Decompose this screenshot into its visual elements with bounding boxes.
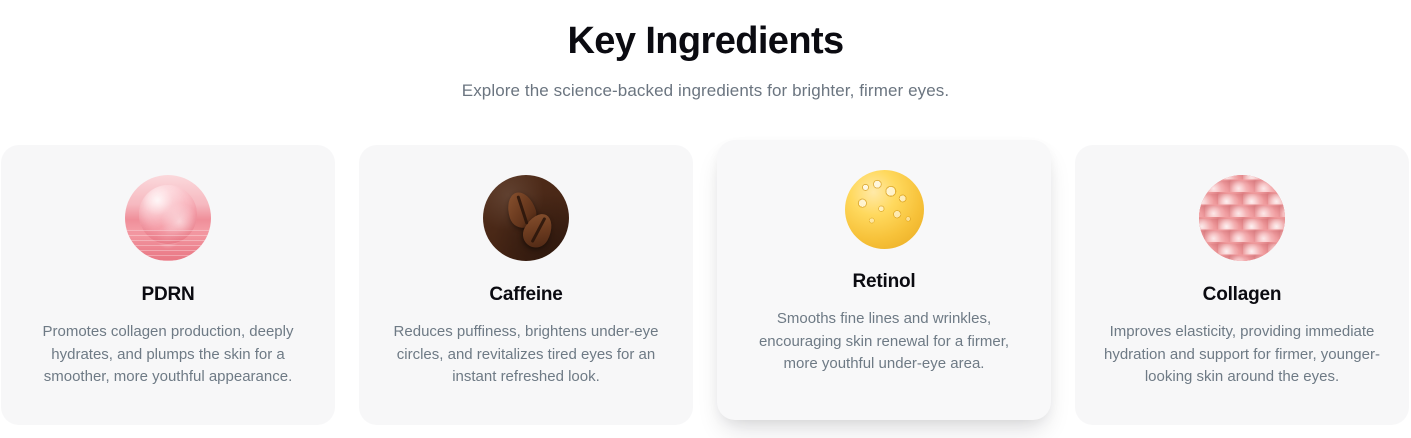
- oil-bubbles-texture: [845, 170, 924, 249]
- ingredient-name: Caffeine: [489, 283, 562, 307]
- ingredient-card-retinol[interactable]: Retinol Smooths fine lines and wrinkles,…: [717, 140, 1051, 420]
- ingredient-card-pdrn[interactable]: PDRN Promotes collagen production, deepl…: [1, 145, 335, 425]
- ingredient-name: Collagen: [1203, 283, 1282, 307]
- coffee-bean-seam-icon: [531, 217, 547, 243]
- collagen-bead-texture: [1199, 175, 1285, 261]
- ingredient-description: Smooths fine lines and wrinkles, encoura…: [741, 308, 1027, 376]
- page-title: Key Ingredients: [0, 17, 1411, 65]
- section-header: Key Ingredients Explore the science-back…: [0, 0, 1411, 103]
- ingredient-name: PDRN: [141, 283, 194, 307]
- key-ingredients-section: Key Ingredients Explore the science-back…: [0, 0, 1411, 438]
- ingredient-description: Promotes collagen production, deeply hyd…: [25, 321, 311, 389]
- ingredient-name: Retinol: [853, 270, 916, 294]
- collagen-beads-image: [1199, 175, 1285, 261]
- ingredient-card-grid: PDRN Promotes collagen production, deepl…: [0, 145, 1411, 425]
- caffeine-coffee-beans-image: [483, 175, 569, 261]
- section-subtitle: Explore the science-backed ingredients f…: [0, 79, 1411, 103]
- ingredient-description: Reduces puffiness, brightens under-eye c…: [383, 321, 669, 389]
- retinol-oil-sphere-image: [845, 170, 924, 249]
- coffee-bean-seam-icon: [516, 195, 528, 224]
- pdrn-water-droplet-image: [125, 175, 211, 261]
- ingredient-description: Improves elasticity, providing immediate…: [1099, 321, 1385, 389]
- ingredient-card-caffeine[interactable]: Caffeine Reduces puffiness, brightens un…: [359, 145, 693, 425]
- ingredient-card-collagen[interactable]: Collagen Improves elasticity, providing …: [1075, 145, 1409, 425]
